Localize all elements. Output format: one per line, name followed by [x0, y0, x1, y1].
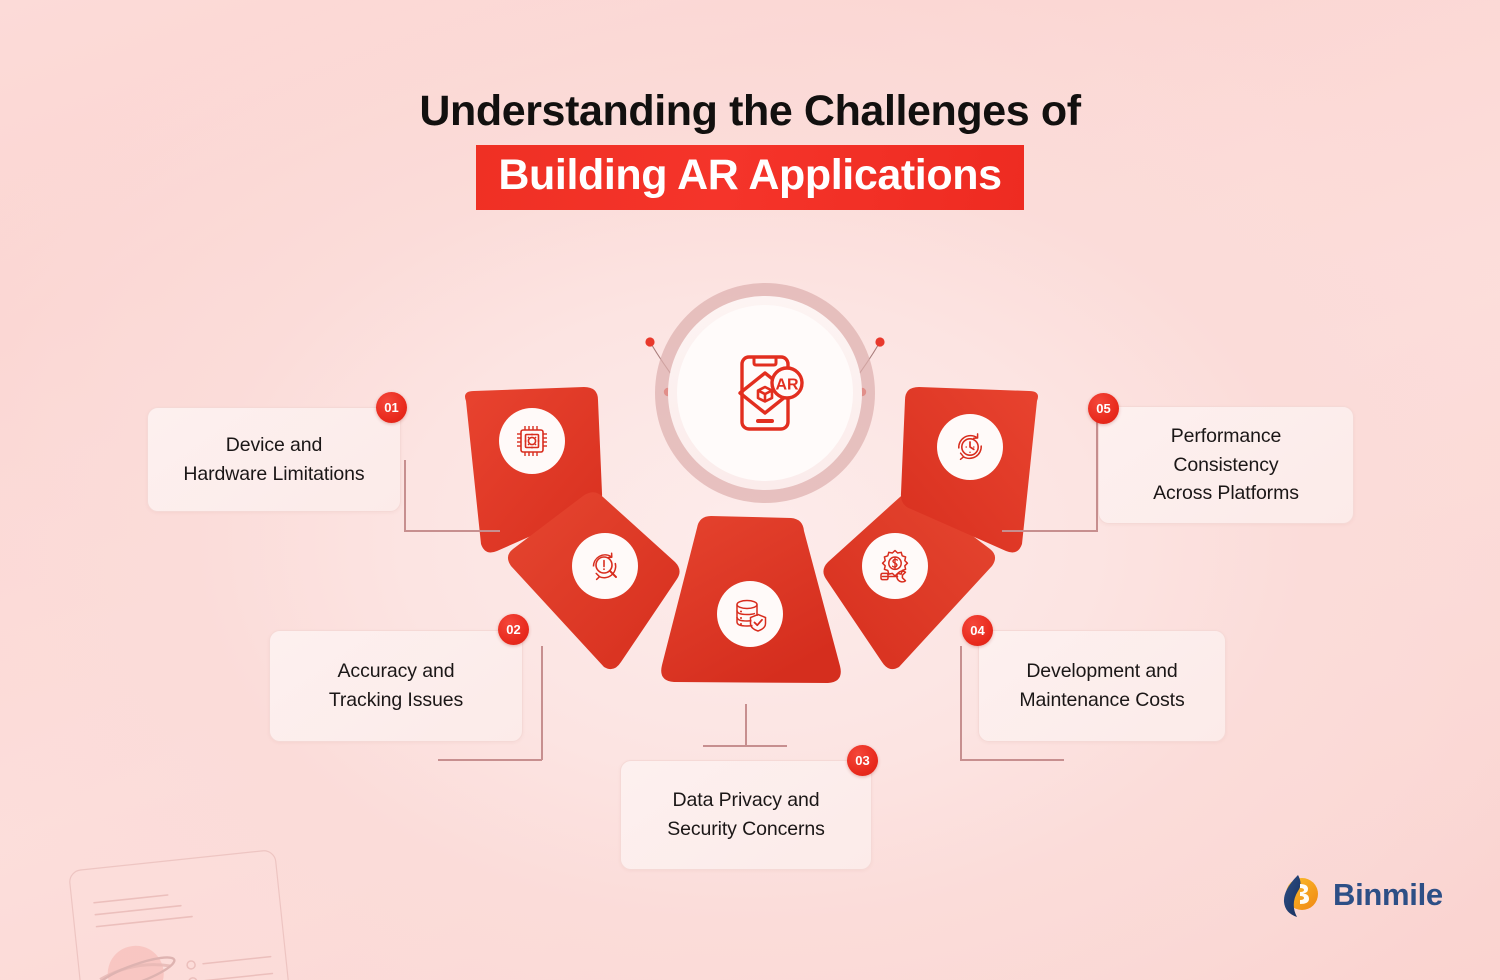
- connector-04-v: [960, 646, 962, 760]
- clock-refresh-icon: [937, 414, 1003, 480]
- connector-02-h: [438, 759, 542, 761]
- title-line-2: Building AR Applications: [498, 152, 1001, 198]
- microchip-gear-icon: [499, 408, 565, 474]
- step-badge-1: 01: [376, 392, 407, 423]
- step-badge-3: 03: [847, 745, 878, 776]
- connector-01-v: [404, 460, 406, 532]
- connector-01-h: [404, 530, 500, 532]
- card-1-line-1: Device and: [183, 431, 364, 460]
- challenge-card-4-text: Development and Maintenance Costs: [1019, 657, 1184, 715]
- challenge-card-1-text: Device and Hardware Limitations: [183, 431, 364, 489]
- card-2-line-2: Tracking Issues: [329, 686, 463, 715]
- step-badge-5: 05: [1088, 393, 1119, 424]
- challenge-card-5-text: Performance Consistency Across Platforms: [1153, 422, 1299, 509]
- challenge-card-3-text: Data Privacy and Security Concerns: [667, 786, 825, 844]
- card-3-line-2: Security Concerns: [667, 815, 825, 844]
- ar-mobile-icon: AR: [716, 344, 814, 442]
- challenge-card-5[interactable]: Performance Consistency Across Platforms: [1098, 406, 1354, 524]
- binmile-logo-text: Binmile: [1333, 877, 1443, 913]
- challenge-card-2[interactable]: Accuracy and Tracking Issues: [269, 630, 523, 742]
- card-3-line-1: Data Privacy and: [667, 786, 825, 815]
- binmile-logo-mark: [1278, 872, 1322, 918]
- connector-03-h: [703, 745, 787, 747]
- card-4-line-2: Maintenance Costs: [1019, 686, 1184, 715]
- connector-03-v: [745, 704, 747, 746]
- connector-04-h: [960, 759, 1064, 761]
- challenge-card-2-text: Accuracy and Tracking Issues: [329, 657, 463, 715]
- challenge-card-4[interactable]: Development and Maintenance Costs: [978, 630, 1226, 742]
- decorative-document-card: [64, 845, 295, 980]
- card-5-line-3: Across Platforms: [1153, 479, 1299, 508]
- step-badge-4: 04: [962, 615, 993, 646]
- hub-center: AR: [677, 305, 853, 481]
- card-5-line-2: Consistency: [1153, 451, 1299, 480]
- ar-badge-label: AR: [775, 377, 799, 394]
- card-1-line-2: Hardware Limitations: [183, 460, 364, 489]
- title-line-1: Understanding the Challenges of: [0, 88, 1500, 134]
- connector-02-v: [541, 646, 543, 760]
- magnifier-alert-refresh-icon: [572, 533, 638, 599]
- card-5-line-1: Performance: [1153, 422, 1299, 451]
- card-2-line-1: Accuracy and: [329, 657, 463, 686]
- connector-05-h: [1002, 530, 1098, 532]
- card-4-line-1: Development and: [1019, 657, 1184, 686]
- title-highlight: Building AR Applications: [476, 145, 1023, 209]
- page-title: Understanding the Challenges of Building…: [0, 88, 1500, 210]
- binmile-logo[interactable]: Binmile: [1278, 872, 1443, 918]
- step-badge-2: 02: [498, 614, 529, 645]
- database-shield-icon: [717, 581, 783, 647]
- infographic-canvas: Understanding the Challenges of Building…: [0, 0, 1500, 980]
- challenge-card-1[interactable]: Device and Hardware Limitations: [147, 407, 401, 512]
- challenge-card-3[interactable]: Data Privacy and Security Concerns: [620, 760, 872, 870]
